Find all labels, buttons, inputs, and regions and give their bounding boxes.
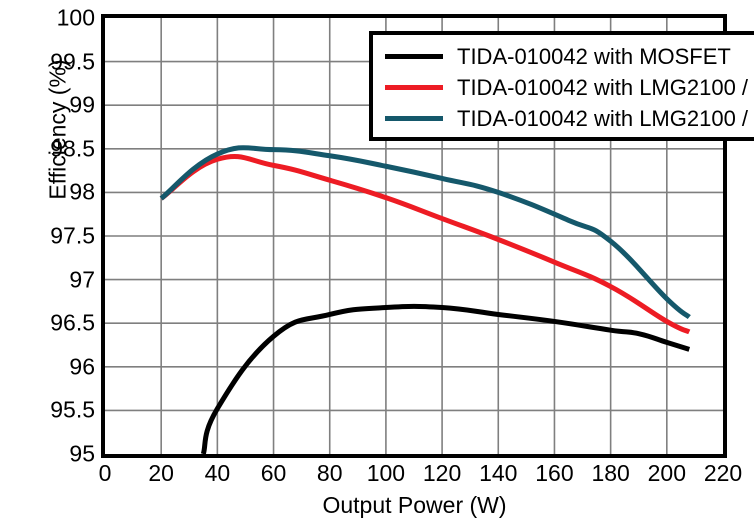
y-tick-label: 100	[3, 7, 95, 30]
efficiency-chart-figure: Efficiency (%) 9595.59696.59797.59898.59…	[0, 0, 754, 527]
y-tick-label: 95.5	[3, 399, 95, 422]
y-tick-label: 97.5	[3, 225, 95, 248]
y-tick-label: 98.5	[3, 137, 95, 160]
y-tick-label: 99.5	[3, 50, 95, 73]
legend-label: TIDA-010042 with LMG2100 / 2 Layer	[457, 77, 754, 99]
legend-color-swatch	[385, 116, 443, 121]
legend-item: TIDA-010042 with MOSFET	[385, 41, 754, 72]
legend-color-swatch	[385, 85, 443, 90]
legend-box: TIDA-010042 with MOSFETTIDA-010042 with …	[369, 31, 754, 141]
x-tick-label: 220	[683, 462, 754, 485]
y-tick-label: 98	[3, 181, 95, 204]
legend-item: TIDA-010042 with LMG2100 / 2 Layer	[385, 72, 754, 103]
legend-label: TIDA-010042 with MOSFET	[457, 46, 731, 68]
y-tick-label: 96.5	[3, 312, 95, 335]
x-axis-title: Output Power (W)	[101, 492, 728, 519]
series-line-0	[203, 306, 689, 454]
series-line-2	[161, 148, 689, 317]
legend-label: TIDA-010042 with LMG2100 / 4 Layer	[457, 108, 754, 130]
y-tick-label: 97	[3, 268, 95, 291]
legend-item: TIDA-010042 with LMG2100 / 4 Layer	[385, 103, 754, 134]
y-tick-label: 96	[3, 355, 95, 378]
legend-color-swatch	[385, 54, 443, 59]
y-axis-tick-labels: 9595.59696.59797.59898.59999.5100	[0, 0, 95, 527]
y-tick-label: 99	[3, 94, 95, 117]
plot-area: TIDA-010042 with MOSFETTIDA-010042 with …	[101, 14, 727, 458]
